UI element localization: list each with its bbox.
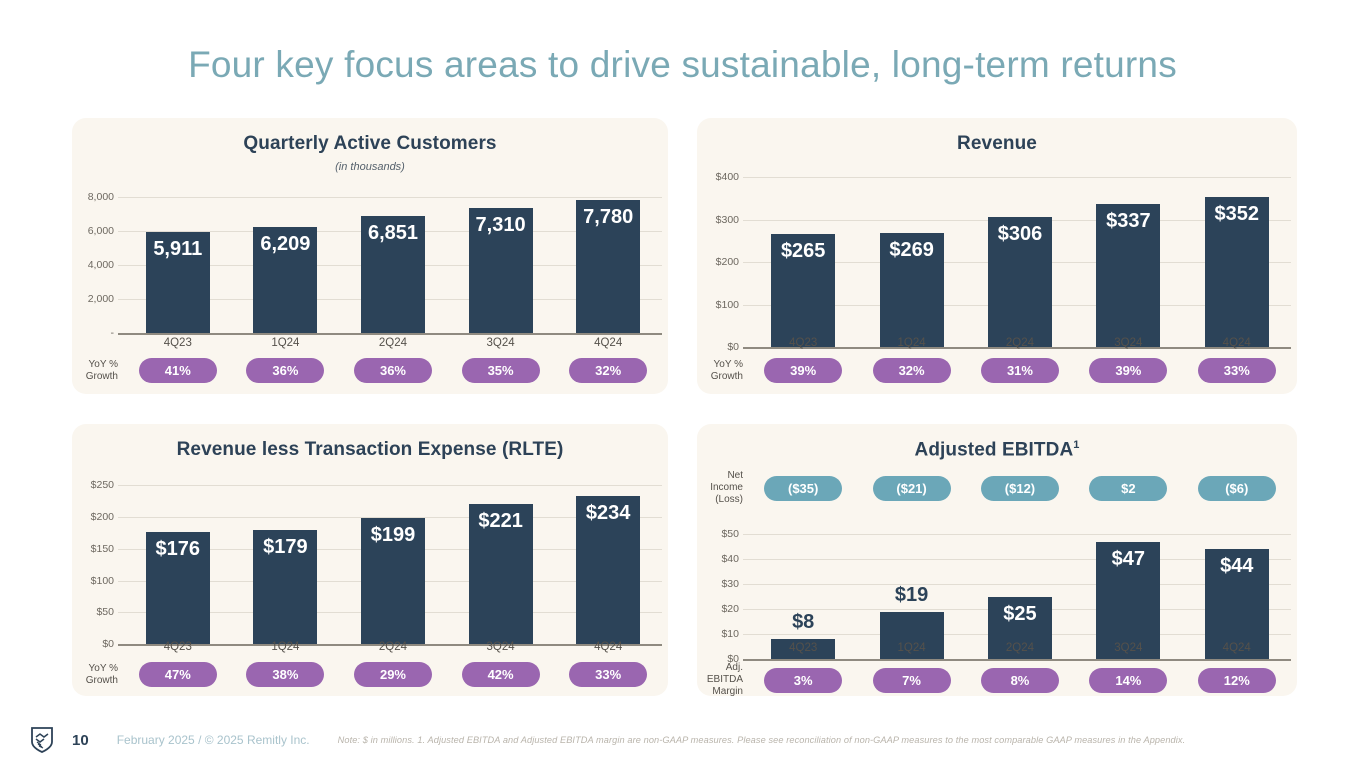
status-badge: 36%: [246, 358, 324, 383]
bar[interactable]: $337: [1096, 204, 1160, 347]
bar-slot: 6,851: [342, 183, 444, 333]
status-badge: 39%: [764, 358, 842, 383]
badge-list: ($35)($21)($12)$2($6): [749, 476, 1291, 501]
row-label: YoY % Growth: [72, 359, 124, 383]
bar-slot: $47: [1077, 529, 1180, 659]
yoy-growth-row: YoY % Growth 39%32%31%39%33%: [697, 358, 1291, 383]
bar-value-label: 7,780: [576, 206, 640, 229]
badge-cell: 29%: [342, 662, 444, 687]
category-label: 2Q24: [342, 337, 444, 349]
badge-cell: 12%: [1185, 668, 1288, 693]
y-axis-tick: $250: [91, 479, 114, 491]
bar[interactable]: 7,310: [469, 208, 533, 333]
y-axis-tick: $0: [727, 341, 739, 353]
yoy-growth-row: YoY % Growth 47%38%29%42%33%: [72, 662, 662, 687]
status-badge: 38%: [246, 662, 324, 687]
status-badge: 42%: [462, 662, 540, 687]
category-label: 2Q24: [968, 337, 1071, 349]
bar-value-label: $337: [1096, 210, 1160, 233]
status-badge: ($12): [981, 476, 1059, 501]
bar-slot: $221: [449, 479, 551, 644]
bar-value-label: 7,310: [469, 214, 533, 237]
status-badge: 3%: [764, 668, 842, 693]
adj-ebitda-margin-row: Adj. EBITDA Margin 3%7%8%14%12%: [697, 662, 1291, 698]
bar-value-label: $179: [253, 536, 317, 559]
bar-series: $176$179$199$221$234: [124, 479, 662, 644]
status-badge: 41%: [139, 358, 217, 383]
chart-subtitle: (in thousands): [72, 161, 668, 173]
bar[interactable]: 6,851: [361, 216, 425, 333]
page-number: 10: [72, 732, 89, 749]
bar-slot: $234: [557, 479, 659, 644]
badge-list: 41%36%36%35%32%: [124, 358, 662, 383]
bar[interactable]: $306: [988, 217, 1052, 347]
y-axis-tick: $20: [721, 603, 739, 615]
category-label: 1Q24: [860, 642, 963, 654]
status-badge: ($35): [764, 476, 842, 501]
status-badge: ($6): [1198, 476, 1276, 501]
y-axis-tick: 2,000: [88, 293, 114, 305]
bar[interactable]: $234: [576, 496, 640, 645]
category-label: 4Q23: [752, 642, 855, 654]
status-badge: 35%: [462, 358, 540, 383]
plot-area: $400$300$200$100$0$265$269$306$337$352: [697, 177, 1297, 347]
y-axis-tick: $40: [721, 553, 739, 565]
y-axis-tick: $10: [721, 628, 739, 640]
bar-slot: $176: [127, 479, 229, 644]
y-axis: $400$300$200$100$0: [697, 177, 743, 347]
y-axis-tick: $30: [721, 578, 739, 590]
bar[interactable]: $352: [1205, 197, 1269, 347]
copyright-text: February 2025 / © 2025 Remitly Inc.: [117, 733, 310, 747]
y-axis-tick: $200: [716, 256, 739, 268]
chart-title: Quarterly Active Customers: [72, 118, 668, 155]
bar-slot: 6,209: [234, 183, 336, 333]
bar-slot: $306: [968, 177, 1071, 347]
bar-value-label: $221: [469, 510, 533, 533]
chart-title-text: Adjusted EBITDA: [915, 439, 1074, 460]
badge-list: 47%38%29%42%33%: [124, 662, 662, 687]
footnote-marker: 1: [1073, 439, 1079, 451]
status-badge: 29%: [354, 662, 432, 687]
bar-value-label: $352: [1205, 203, 1269, 226]
bar[interactable]: $199: [361, 518, 425, 644]
badge-cell: 36%: [342, 358, 444, 383]
category-label: 3Q24: [1077, 337, 1180, 349]
status-badge: 12%: [1198, 668, 1276, 693]
badge-cell: 39%: [752, 358, 855, 383]
status-badge: 8%: [981, 668, 1059, 693]
y-axis-tick: $50: [96, 606, 114, 618]
bar-value-label: 6,209: [253, 233, 317, 256]
page-title: Four key focus areas to drive sustainabl…: [0, 44, 1365, 86]
chart-panel-rlte: Revenue less Transaction Expense (RLTE) …: [72, 424, 668, 696]
bar[interactable]: $179: [253, 530, 317, 644]
category-label: 4Q23: [127, 337, 229, 349]
bar-value-label: $25: [988, 603, 1052, 626]
badge-cell: 41%: [127, 358, 229, 383]
category-label: 1Q24: [860, 337, 963, 349]
y-axis-tick: $200: [91, 511, 114, 523]
status-badge: 32%: [569, 358, 647, 383]
chart-title: Adjusted EBITDA1: [697, 424, 1297, 461]
chart-panel-revenue: Revenue $400$300$200$100$0$265$269$306$3…: [697, 118, 1297, 394]
slide-footer: 10 February 2025 / © 2025 Remitly Inc. N…: [0, 712, 1365, 768]
chart-panel-quarterly-active-customers: Quarterly Active Customers (in thousands…: [72, 118, 668, 394]
y-axis-tick: $0: [102, 638, 114, 650]
bar-value-label: $306: [988, 223, 1052, 246]
badge-cell: 8%: [968, 668, 1071, 693]
y-axis-tick: $50: [721, 528, 739, 540]
bar[interactable]: $221: [469, 504, 533, 644]
badge-cell: 38%: [234, 662, 336, 687]
badge-cell: 39%: [1077, 358, 1180, 383]
y-axis-tick: $300: [716, 214, 739, 226]
category-label: 2Q24: [968, 642, 1071, 654]
category-label: 3Q24: [449, 337, 551, 349]
category-label: 4Q24: [1185, 642, 1288, 654]
bar-value-label: $47: [1096, 548, 1160, 571]
yoy-growth-row: YoY % Growth 41%36%36%35%32%: [72, 358, 662, 383]
bar-slot: $25: [968, 529, 1071, 659]
bar-slot: $19: [860, 529, 963, 659]
footnote-text: Note: $ in millions. 1. Adjusted EBITDA …: [338, 735, 1186, 745]
y-axis-tick: $100: [91, 575, 114, 587]
bar-slot: $199: [342, 479, 444, 644]
y-axis-tick: $100: [716, 299, 739, 311]
badge-cell: 32%: [557, 358, 659, 383]
bar-value-label: $176: [146, 538, 210, 561]
category-label: 2Q24: [342, 641, 444, 653]
status-badge: 36%: [354, 358, 432, 383]
badge-cell: 32%: [860, 358, 963, 383]
baseline: [118, 333, 662, 335]
status-badge: 39%: [1089, 358, 1167, 383]
bar-value-label: $234: [576, 502, 640, 525]
slide: Four key focus areas to drive sustainabl…: [0, 0, 1365, 768]
y-axis-tick: 6,000: [88, 225, 114, 237]
chart-title: Revenue: [697, 118, 1297, 155]
badge-cell: 3%: [752, 668, 855, 693]
status-badge: 31%: [981, 358, 1059, 383]
bar-slot: 5,911: [127, 183, 229, 333]
category-label: 4Q24: [557, 641, 659, 653]
status-badge: 33%: [569, 662, 647, 687]
bar-slot: $44: [1185, 529, 1288, 659]
y-axis: $50$40$30$20$10$0: [697, 529, 743, 659]
bar-slot: 7,310: [449, 183, 551, 333]
bar-value-label: $265: [771, 240, 835, 263]
category-label: 4Q24: [557, 337, 659, 349]
bar-value-label: $19: [880, 584, 944, 607]
bar-slot: 7,780: [557, 183, 659, 333]
category-axis: 4Q231Q242Q243Q244Q24: [749, 337, 1291, 349]
category-label: 3Q24: [449, 641, 551, 653]
row-label: Adj. EBITDA Margin: [697, 662, 749, 698]
badge-cell: 7%: [860, 668, 963, 693]
badge-cell: 14%: [1077, 668, 1180, 693]
status-badge: ($21): [873, 476, 951, 501]
category-label: 4Q23: [127, 641, 229, 653]
badge-cell: 33%: [1185, 358, 1288, 383]
status-badge: 47%: [139, 662, 217, 687]
bar-slot: $8: [752, 529, 855, 659]
bar-series: 5,9116,2096,8517,3107,780: [124, 183, 662, 333]
badge-cell: 33%: [557, 662, 659, 687]
bar-value-label: $44: [1205, 555, 1269, 578]
net-income-row: Net Income (Loss) ($35)($21)($12)$2($6): [697, 470, 1291, 506]
bar[interactable]: $176: [146, 532, 210, 644]
chart-panel-adjusted-ebitda: Adjusted EBITDA1 Net Income (Loss) ($35)…: [697, 424, 1297, 696]
plot-area: $250$200$150$100$50$0$176$179$199$221$23…: [72, 479, 668, 644]
badge-cell: ($21): [860, 476, 963, 501]
badge-cell: ($6): [1185, 476, 1288, 501]
badge-cell: 31%: [968, 358, 1071, 383]
category-label: 4Q23: [752, 337, 855, 349]
status-badge: 7%: [873, 668, 951, 693]
badge-cell: ($12): [968, 476, 1071, 501]
plot-area: 8,0006,0004,0002,000-5,9116,2096,8517,31…: [72, 183, 668, 333]
category-label: 3Q24: [1077, 642, 1180, 654]
row-label: YoY % Growth: [697, 359, 749, 383]
bar[interactable]: 6,209: [253, 227, 317, 333]
plot-area: $50$40$30$20$10$0$8$19$25$47$44: [697, 529, 1297, 659]
chart-title: Revenue less Transaction Expense (RLTE): [72, 424, 668, 461]
status-badge: 32%: [873, 358, 951, 383]
status-badge: 33%: [1198, 358, 1276, 383]
badge-cell: 35%: [449, 358, 551, 383]
badge-cell: ($35): [752, 476, 855, 501]
y-axis: $250$200$150$100$50$0: [72, 479, 118, 644]
category-axis: 4Q231Q242Q243Q244Q24: [749, 642, 1291, 654]
y-axis-tick: $400: [716, 171, 739, 183]
bar-slot: $179: [234, 479, 336, 644]
badge-cell: 36%: [234, 358, 336, 383]
y-axis-tick: 4,000: [88, 259, 114, 271]
badge-cell: 42%: [449, 662, 551, 687]
category-axis: 4Q231Q242Q243Q244Q24: [124, 641, 662, 653]
row-label: Net Income (Loss): [697, 470, 749, 506]
bar-slot: $337: [1077, 177, 1180, 347]
status-badge: $2: [1089, 476, 1167, 501]
bar[interactable]: 7,780: [576, 200, 640, 333]
bar-value-label: $199: [361, 524, 425, 547]
category-label: 1Q24: [234, 641, 336, 653]
bar-series: $265$269$306$337$352: [749, 177, 1291, 347]
remitly-shield-handshake-icon: [30, 726, 54, 754]
bar-value-label: 5,911: [146, 238, 210, 261]
row-label: YoY % Growth: [72, 663, 124, 687]
badge-cell: 47%: [127, 662, 229, 687]
category-label: 1Q24: [234, 337, 336, 349]
badge-list: 3%7%8%14%12%: [749, 668, 1291, 693]
bar[interactable]: $265: [771, 234, 835, 347]
bar-series: $8$19$25$47$44: [749, 529, 1291, 659]
category-axis: 4Q231Q242Q243Q244Q24: [124, 337, 662, 349]
badge-list: 39%32%31%39%33%: [749, 358, 1291, 383]
bar-value-label: 6,851: [361, 222, 425, 245]
bar-value-label: $269: [880, 239, 944, 262]
bar-slot: $352: [1185, 177, 1288, 347]
y-axis-tick: $150: [91, 543, 114, 555]
y-axis-tick: 8,000: [88, 191, 114, 203]
bar-slot: $269: [860, 177, 963, 347]
bar[interactable]: $269: [880, 233, 944, 347]
bar-slot: $265: [752, 177, 855, 347]
baseline: [743, 659, 1291, 661]
status-badge: 14%: [1089, 668, 1167, 693]
category-label: 4Q24: [1185, 337, 1288, 349]
y-axis-tick: -: [111, 327, 115, 339]
bar[interactable]: 5,911: [146, 232, 210, 333]
badge-cell: $2: [1077, 476, 1180, 501]
y-axis: 8,0006,0004,0002,000-: [72, 183, 118, 333]
bar-value-label: $8: [771, 611, 835, 634]
